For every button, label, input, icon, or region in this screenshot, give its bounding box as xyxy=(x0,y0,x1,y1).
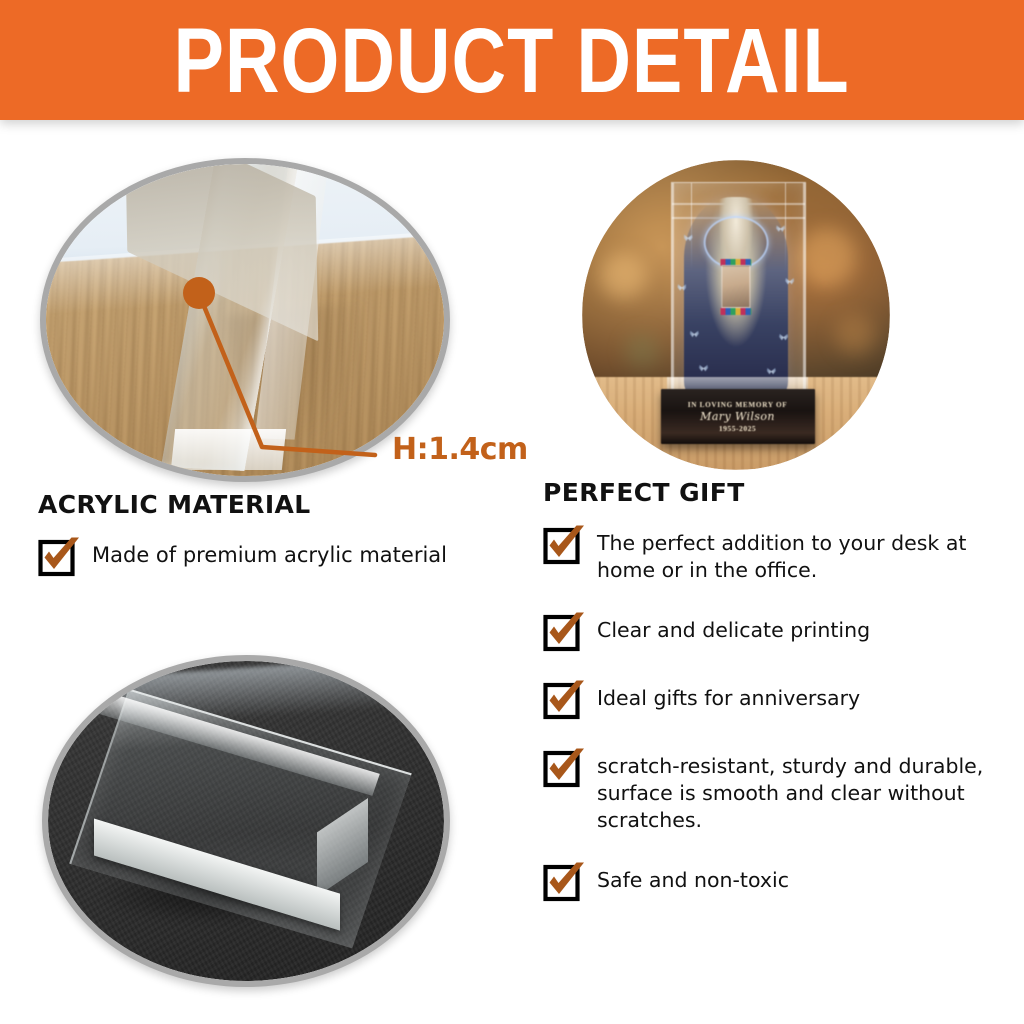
checkbox-checked-icon[interactable] xyxy=(543,861,583,901)
page-title: PRODUCT DETAIL xyxy=(174,14,850,106)
checkbox-checked-icon[interactable] xyxy=(38,536,78,576)
bokeh-light xyxy=(600,253,646,299)
memorial-product-photo: IN LOVING MEMORY OF Mary Wilson 1955-202… xyxy=(582,160,890,470)
list-item-label: The perfect addition to your desk at hom… xyxy=(597,524,1005,583)
bokeh-light xyxy=(835,315,875,355)
list-item: Made of premium acrylic material xyxy=(38,536,508,576)
plaque-line-dates: 1955-2025 xyxy=(719,424,756,433)
bokeh-light xyxy=(625,334,659,368)
acrylic-edge-on-wood-photo xyxy=(40,158,450,482)
list-item: Ideal gifts for anniversary xyxy=(543,679,1005,719)
checkbox-checked-icon[interactable] xyxy=(543,611,583,651)
section-heading-perfect-gift: PERFECT GIFT xyxy=(543,478,745,507)
plaque-line-name: Mary Wilson xyxy=(700,410,775,423)
dimension-label: H:1.4cm xyxy=(392,432,528,467)
section-heading-acrylic-material: ACRYLIC MATERIAL xyxy=(38,490,311,519)
feature-list-acrylic-material: Made of premium acrylic material xyxy=(38,536,508,602)
wood-table-background xyxy=(46,164,444,476)
checkbox-checked-icon[interactable] xyxy=(543,524,583,564)
list-item-label: Made of premium acrylic material xyxy=(92,536,447,569)
photo-clip xyxy=(48,661,444,981)
list-item-label: Clear and delicate printing xyxy=(597,611,870,644)
photo-clip: IN LOVING MEMORY OF Mary Wilson 1955-202… xyxy=(582,160,890,470)
list-item: Safe and non-toxic xyxy=(543,861,1005,901)
list-item-label: Ideal gifts for anniversary xyxy=(597,679,860,712)
acrylic-block-on-slate-photo xyxy=(42,655,450,987)
memorial-plaque: IN LOVING MEMORY OF Mary Wilson 1955-202… xyxy=(661,389,815,443)
feature-list-perfect-gift: The perfect addition to your desk at hom… xyxy=(543,524,1005,929)
header-banner: PRODUCT DETAIL xyxy=(0,0,1024,120)
photo-clip xyxy=(46,164,444,476)
list-item: scratch-resistant, sturdy and durable, s… xyxy=(543,747,1005,833)
checkbox-checked-icon[interactable] xyxy=(543,679,583,719)
personalized-photo xyxy=(721,265,750,308)
list-item: The perfect addition to your desk at hom… xyxy=(543,524,1005,583)
checkbox-checked-icon[interactable] xyxy=(543,747,583,787)
bokeh-light xyxy=(798,228,856,286)
list-item: Clear and delicate printing xyxy=(543,611,1005,651)
plaque-line-memory: IN LOVING MEMORY OF xyxy=(688,401,788,409)
warm-bokeh-background: IN LOVING MEMORY OF Mary Wilson 1955-202… xyxy=(582,160,890,470)
slate-background xyxy=(48,661,444,981)
gem-row-bottom xyxy=(720,308,751,315)
list-item-label: scratch-resistant, sturdy and durable, s… xyxy=(597,747,1005,833)
list-item-label: Safe and non-toxic xyxy=(597,861,789,894)
acrylic-base-highlight xyxy=(171,429,287,470)
